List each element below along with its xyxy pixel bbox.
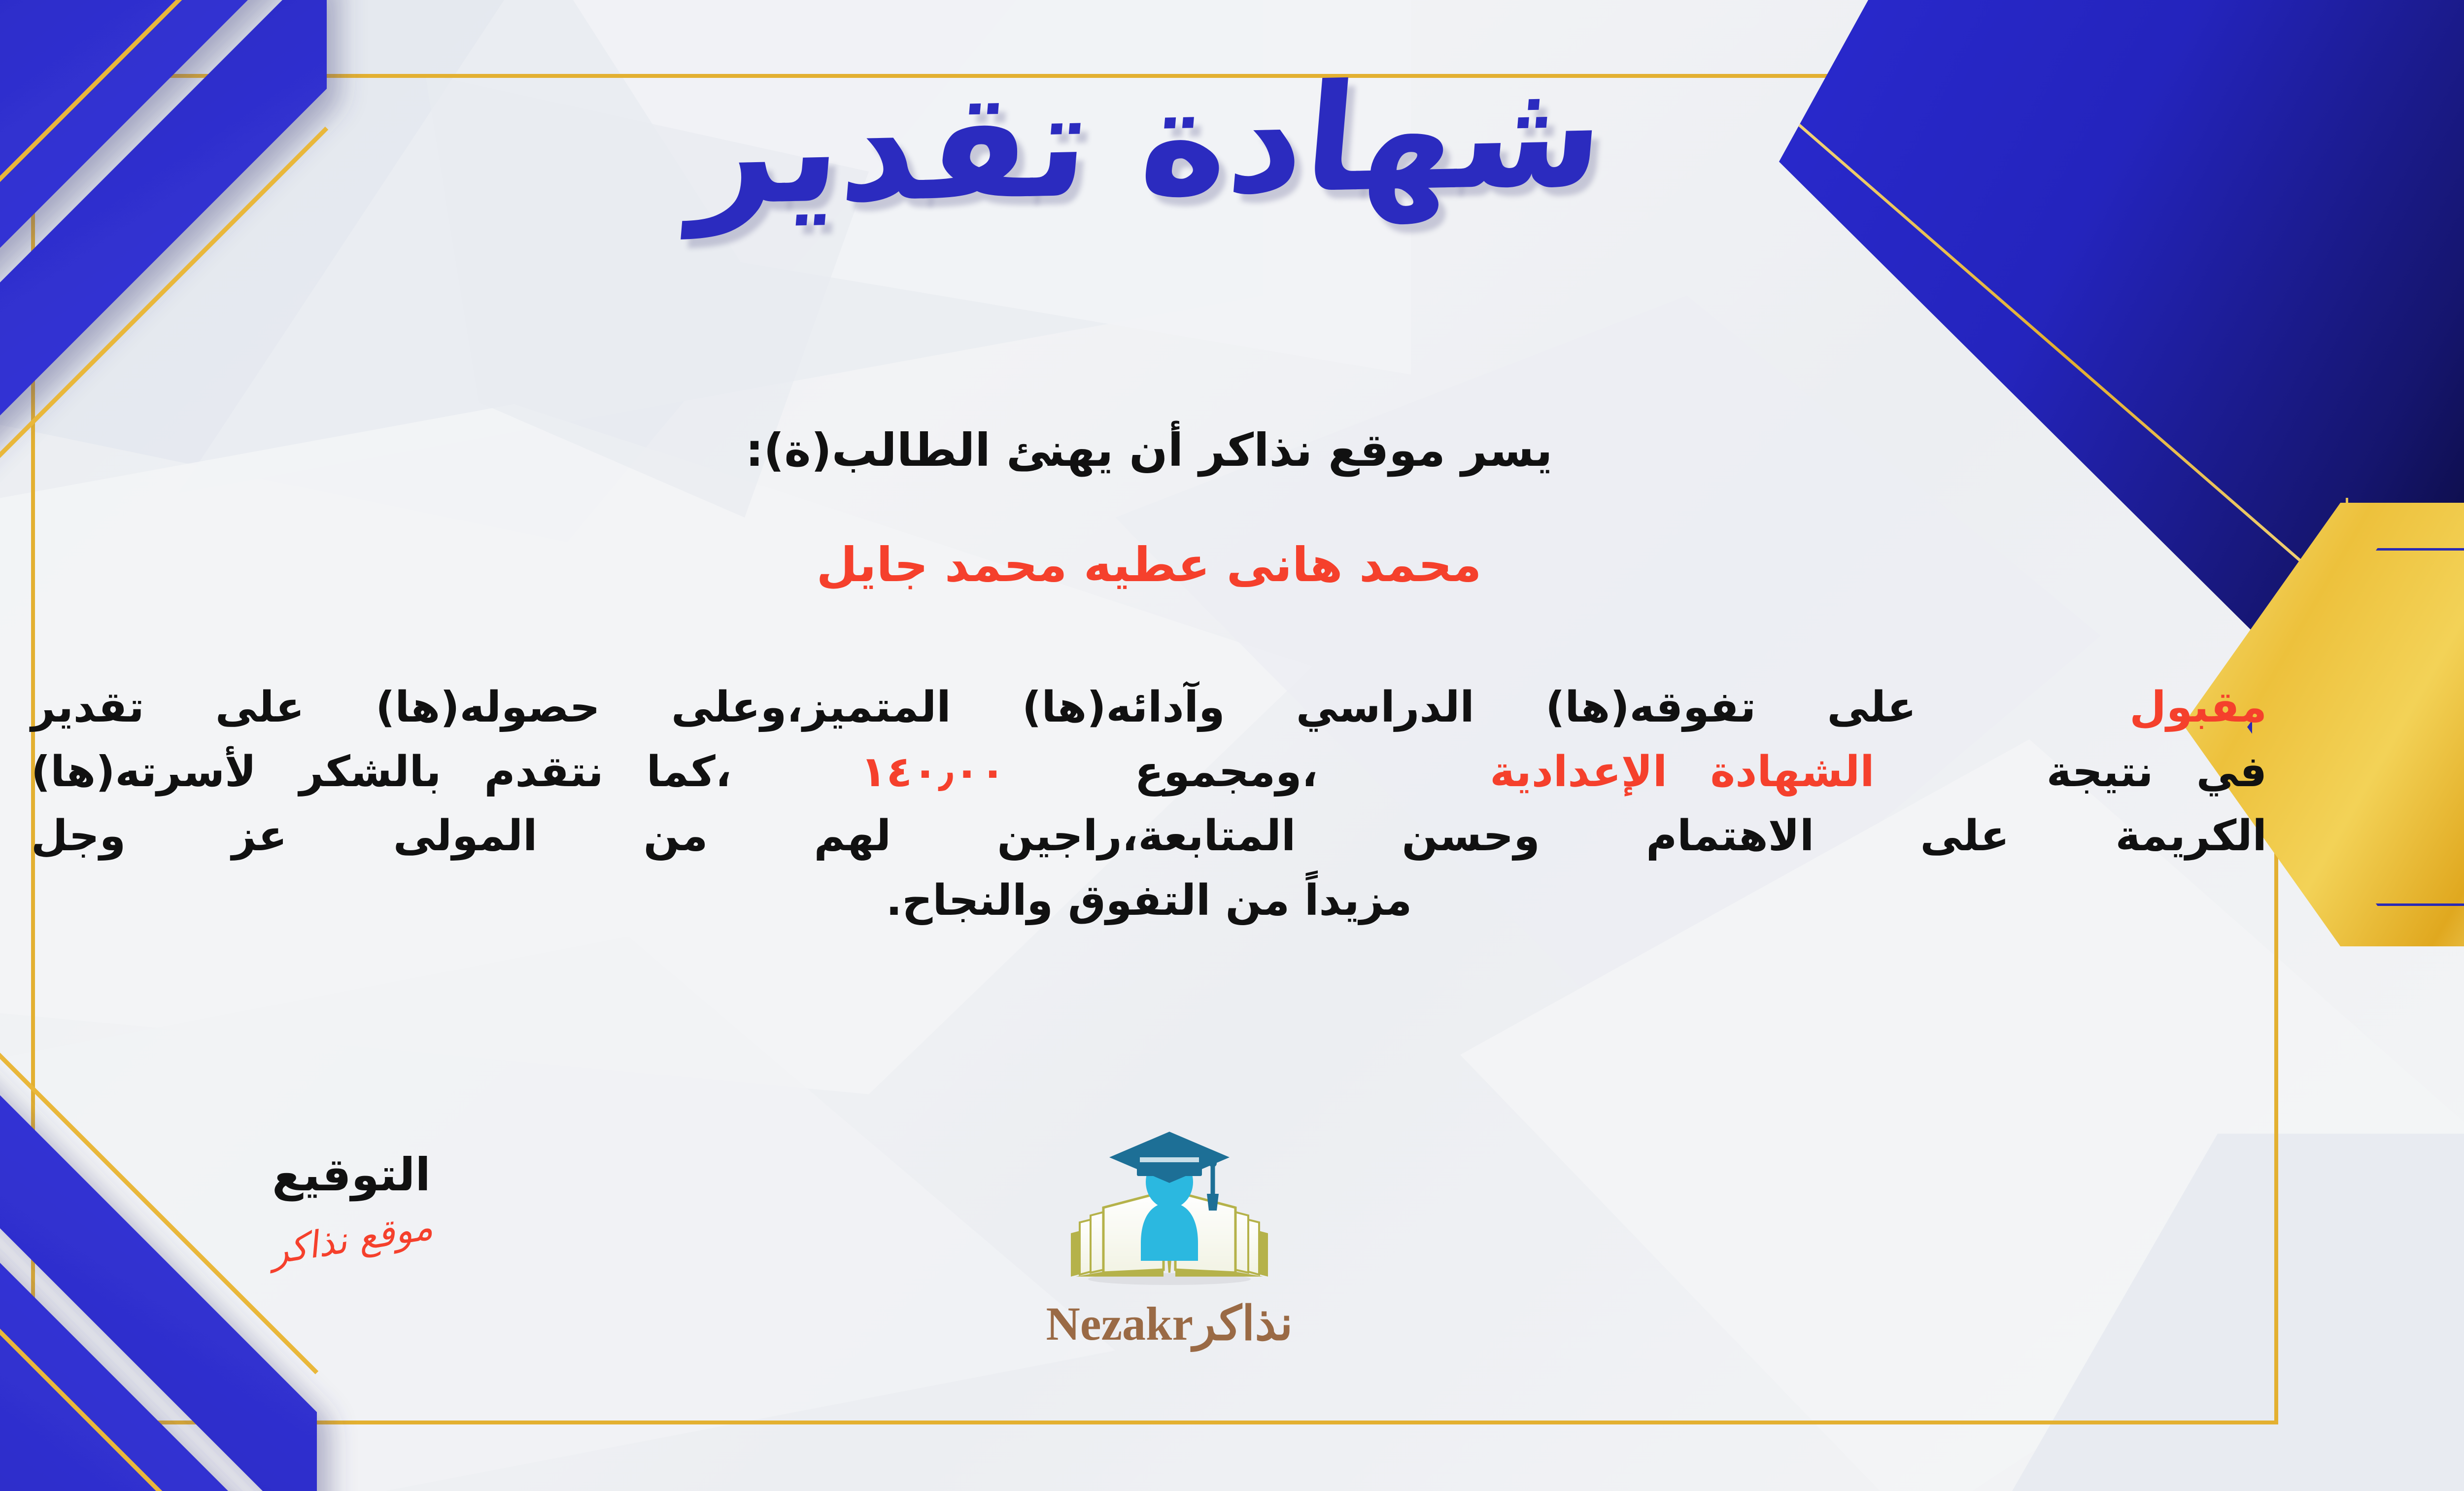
citation-line-4: مزيداً من التفوق والنجاح. <box>31 868 2267 933</box>
citation-line-2: في نتيجة الشهادة الإعدادية ،ومجموع ١٤٠٫٠… <box>31 740 2267 804</box>
certificate-page: شهادة تقدير يسر موقع نذاكر أن يهنئ الطال… <box>0 0 2464 1491</box>
page-title: شهادة تقدير <box>0 41 2464 244</box>
logo-name-latin: Nezakr <box>1046 1296 1194 1351</box>
exam-name: الشهادة الإعدادية <box>1490 747 1875 797</box>
grade-value: مقبول <box>2129 683 2267 732</box>
citation-line-2-prefix: في نتيجة <box>2047 747 2267 797</box>
signature-block: التوقيع موقع نذاكر <box>179 1148 524 1260</box>
intro-line: يسر موقع نذاكر أن يهنئ الطالب(ة): <box>0 424 2464 477</box>
total-score: ١٤٠٫٠٠ <box>860 747 1006 797</box>
signature-mark: موقع نذاكر <box>267 1206 436 1273</box>
graduate-open-book-icon <box>962 1129 1376 1291</box>
citation-line-1: مقبول على تفوقه(ها) الدراسي وآدائه(ها) ا… <box>31 675 2267 740</box>
logo-wordmark: نذاكرNezakr <box>962 1295 1376 1351</box>
student-name: محمد هانى عطيه محمد جايل <box>0 537 2464 592</box>
citation-line-2-mid: ،ومجموع <box>1135 747 1318 797</box>
certificate-content: شهادة تقدير يسر موقع نذاكر أن يهنئ الطال… <box>0 0 2464 1491</box>
citation-line-2-suffix: ،كما نتقدم بالشكر لأسرته(ها) <box>31 747 731 797</box>
citation-line-1-text: على تفوقه(ها) الدراسي وآدائه(ها) المتميز… <box>31 683 1916 732</box>
signature-label: التوقيع <box>179 1148 524 1201</box>
citation-paragraph: مقبول على تفوقه(ها) الدراسي وآدائه(ها) ا… <box>31 675 2267 933</box>
citation-line-3: الكريمة على الاهتمام وحسن المتابعة،راجين… <box>31 804 2267 868</box>
brand-logo: نذاكرNezakr <box>962 1129 1376 1351</box>
logo-name-arabic: نذاكر <box>1193 1295 1293 1351</box>
